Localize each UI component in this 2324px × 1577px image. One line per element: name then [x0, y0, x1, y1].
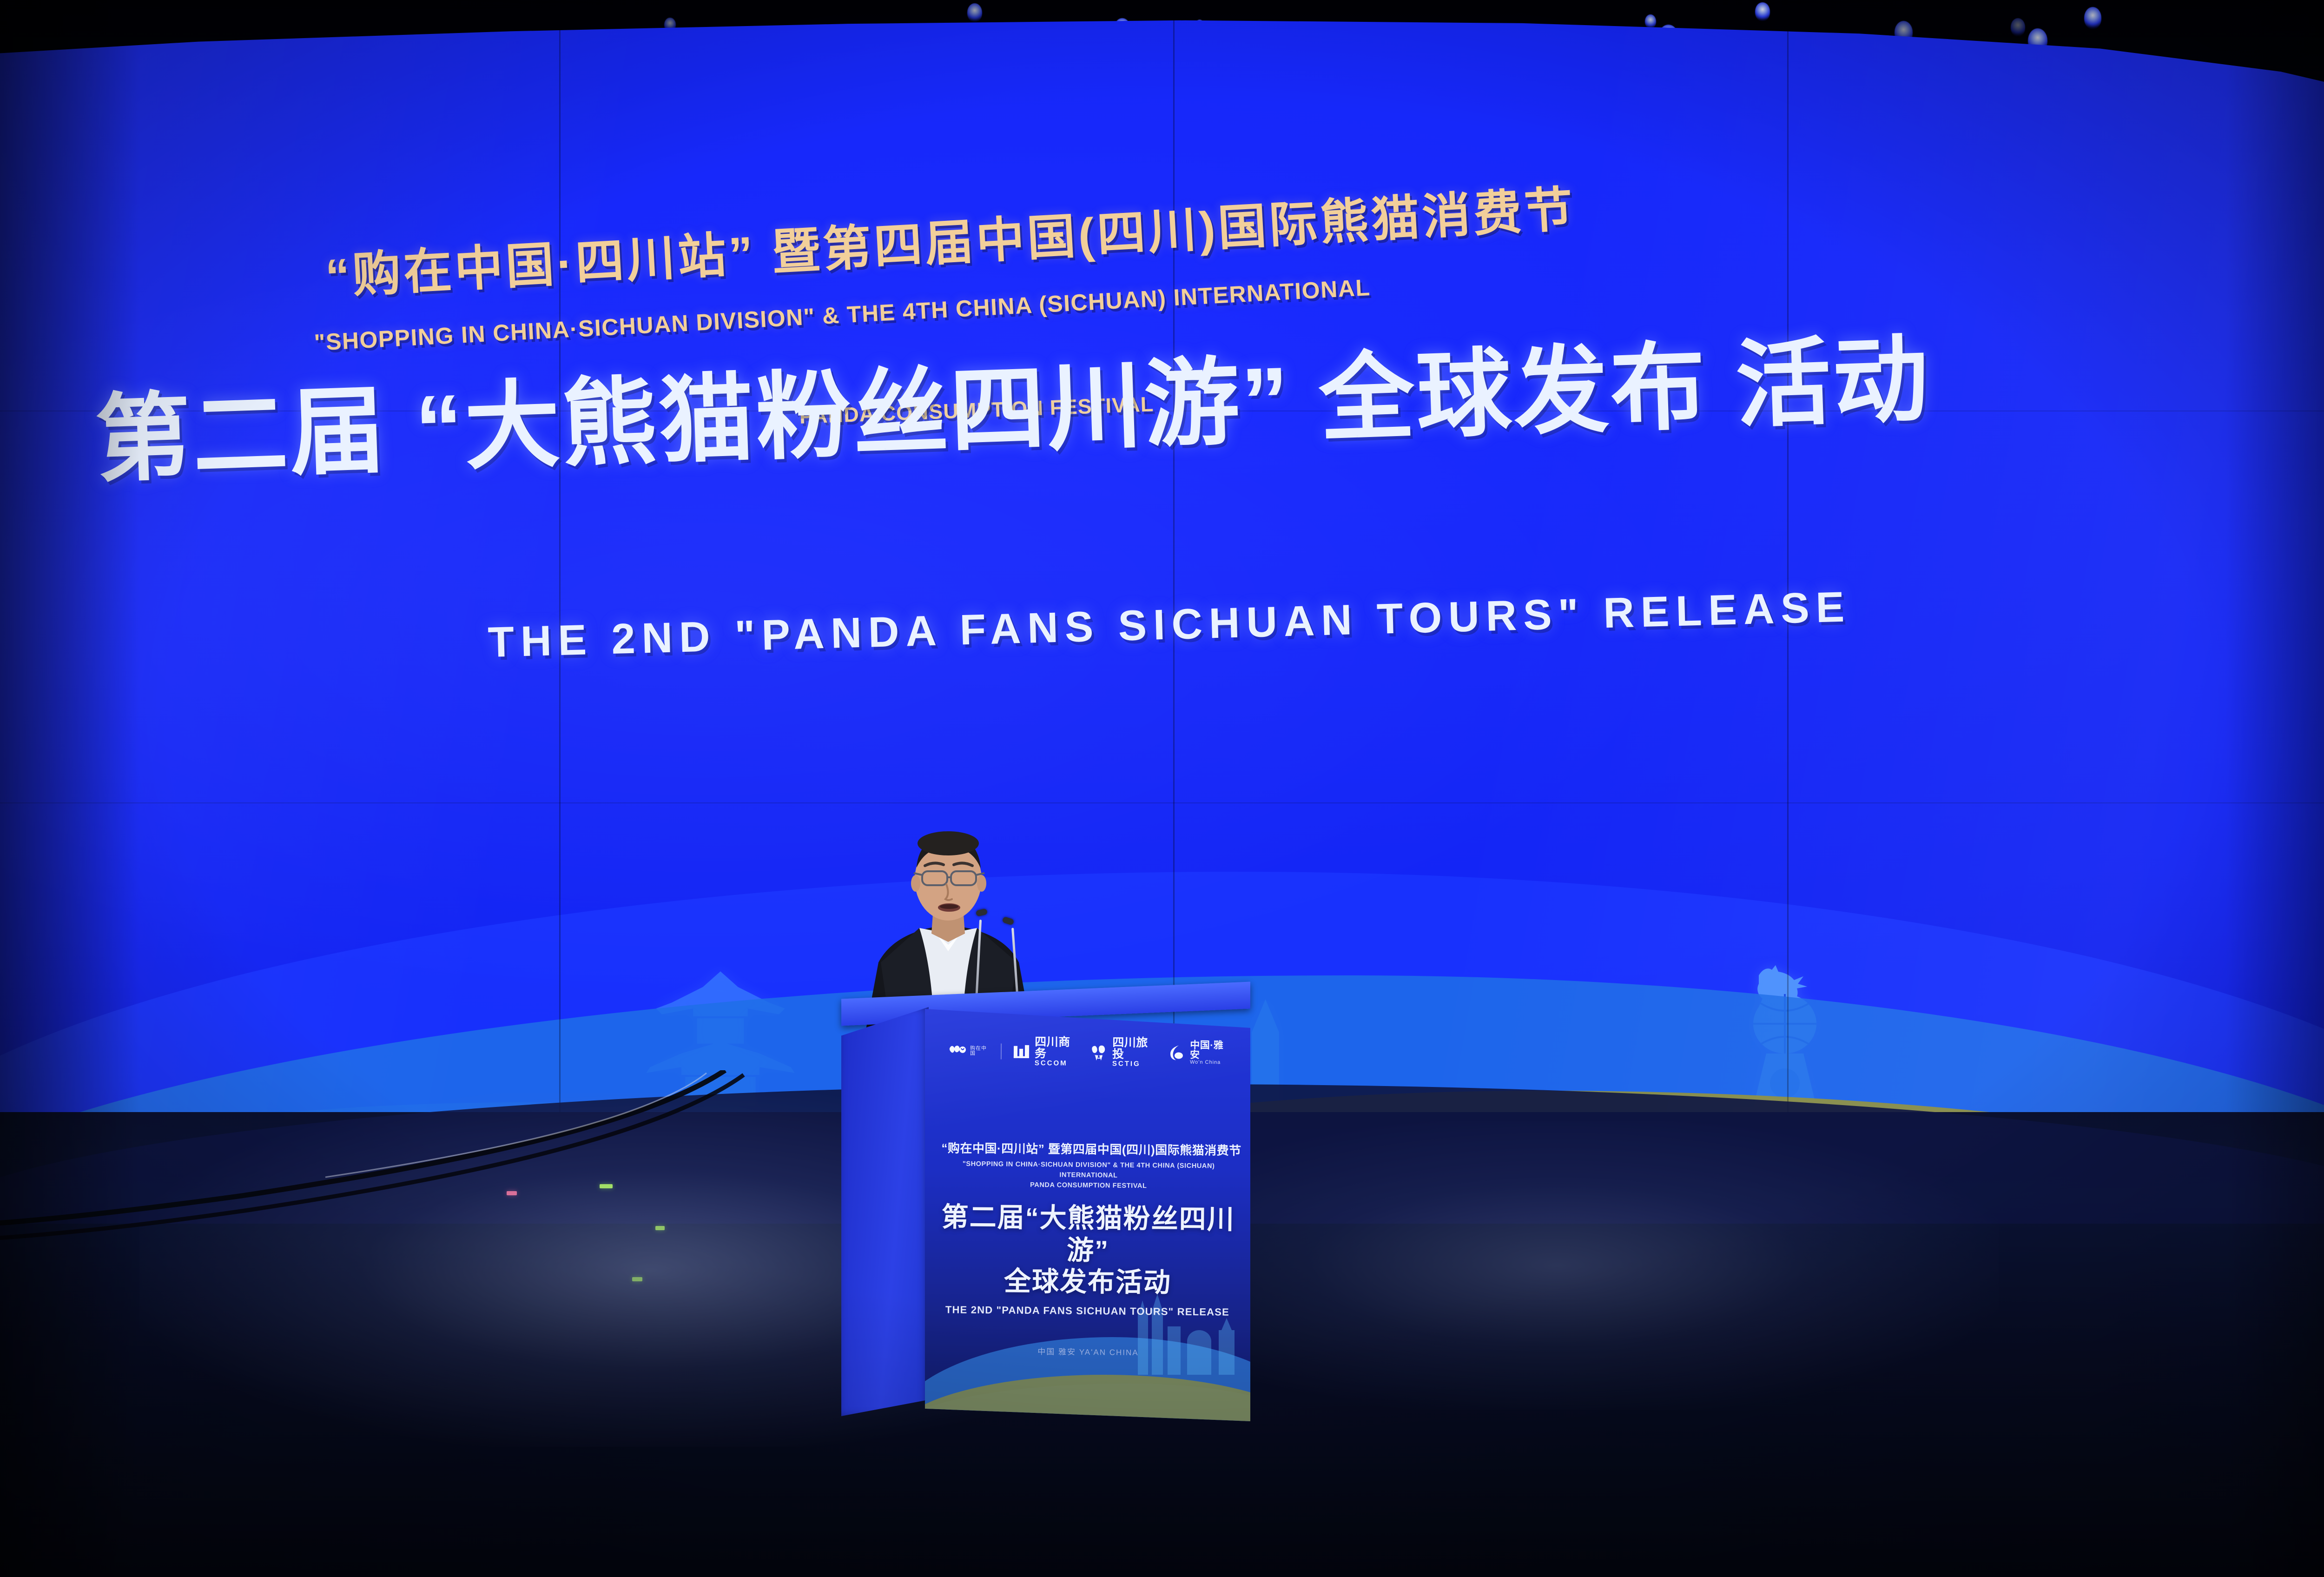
- yaan-sub-label: Wo'n China: [1190, 1060, 1231, 1066]
- glow-tape-marker: [632, 1277, 642, 1281]
- podium-main-title-en: THE 2ND "PANDA FANS SICHUAN TOURS" RELEA…: [940, 1304, 1235, 1319]
- ceiling-light: [1755, 2, 1770, 21]
- podium-title-block: “购在中国·四川站” 暨第四届中国(四川)国际熊猫消费节 "SHOPPING I…: [940, 1139, 1236, 1318]
- podium-main-title-cn-2: 全球发布活动: [940, 1265, 1235, 1299]
- sichuan-commerce-logo: 四川商务 SCCOM: [1012, 1036, 1080, 1067]
- shopping-mark-icon: [947, 1041, 967, 1060]
- stage-scene: “购在中国·四川站” 暨第四届中国(四川)国际熊猫消费节 "SHOPPING I…: [0, 0, 2324, 1577]
- podium-festival-title-en-2: PANDA CONSUMPTION FESTIVAL: [941, 1179, 1236, 1192]
- panda-mark-icon: [1089, 1042, 1109, 1062]
- yaan-cn-label: 中国·雅安: [1190, 1040, 1231, 1060]
- sccom-mark-icon: [1012, 1041, 1031, 1061]
- sichuan-tourism-investment-logo: 四川旅投 SCTIG: [1089, 1037, 1157, 1067]
- ceiling-light: [2084, 7, 2101, 29]
- screen-festival-title-cn: “购在中国·四川站” 暨第四届中国(四川)国际熊猫消费节: [324, 169, 1577, 307]
- podium-main-title-cn-1: 第二届“大熊猫粉丝四川游”: [940, 1201, 1235, 1267]
- shopping-in-china-logo: 购在中国: [947, 1041, 990, 1061]
- ceiling-light: [2011, 18, 2025, 36]
- podium-front-panel: 购在中国 四川商务 SCCOM: [925, 1001, 1250, 1421]
- podium: 购在中国 四川商务 SCCOM: [841, 990, 1250, 1437]
- leaf-mark-icon: [1167, 1043, 1187, 1062]
- sccom-en-label: SCCOM: [1035, 1060, 1079, 1067]
- podium-side-panel: [841, 1007, 929, 1416]
- glow-tape-marker: [600, 1184, 613, 1188]
- shopping-in-china-sub: 购在中国: [970, 1046, 990, 1056]
- logo-divider: [1001, 1043, 1002, 1059]
- ceiling-light: [1645, 14, 1656, 28]
- sctig-cn-label: 四川旅投: [1112, 1037, 1157, 1060]
- screen-main-title-en: THE 2ND "PANDA FANS SICHUAN TOURS" RELEA…: [488, 583, 1852, 667]
- sctig-en-label: SCTIG: [1112, 1060, 1157, 1067]
- sccom-cn-label: 四川商务: [1035, 1036, 1079, 1060]
- glow-tape-marker: [655, 1226, 665, 1230]
- podium-festival-title-en-1: "SHOPPING IN CHINA·SICHUAN DIVISION" & T…: [941, 1159, 1236, 1182]
- podium-festival-title-cn: “购在中国·四川站” 暨第四届中国(四川)国际熊猫消费节: [941, 1139, 1236, 1159]
- podium-sponsor-logo-bar: 购在中国 四川商务 SCCOM: [947, 1036, 1231, 1068]
- yaan-china-logo: 中国·雅安 Wo'n China: [1167, 1040, 1231, 1065]
- glow-tape-marker: [507, 1191, 517, 1195]
- ceiling-light: [967, 3, 982, 22]
